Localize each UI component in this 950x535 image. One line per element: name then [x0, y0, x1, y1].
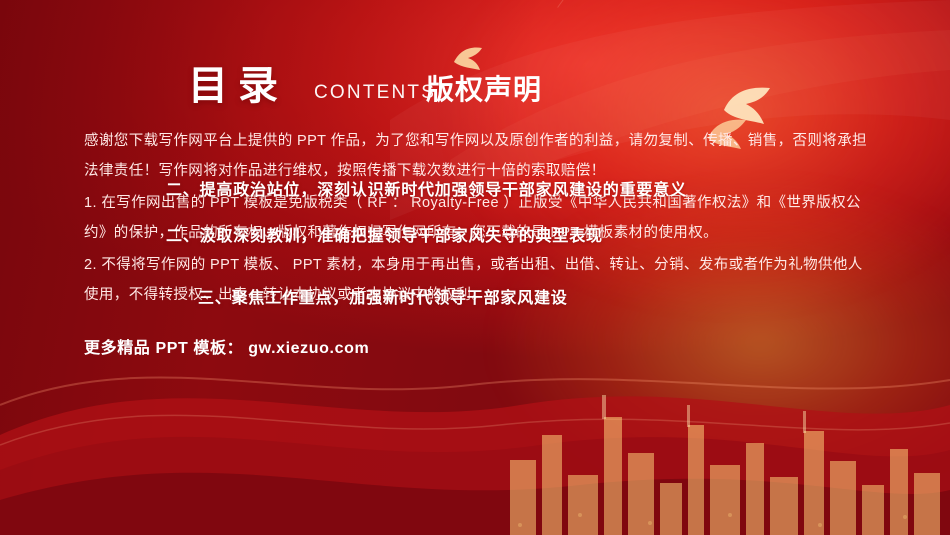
copyright-notice-block: 版权声明 感谢您下载写作网平台上提供的 PPT 作品，为了您和写作网以及原创作者…	[84, 68, 874, 358]
copyright-paragraph-2: 1. 在写作网出售的 PPT 模板是免版税类（ RF ： Royalty-Fre…	[84, 188, 874, 248]
copyright-paragraph-1: 感谢您下载写作网平台上提供的 PPT 作品，为了您和写作网以及原创作者的利益，请…	[84, 126, 874, 186]
copyright-footer-url: gw.xiezuo.com	[248, 340, 369, 357]
copyright-heading: 版权声明	[426, 68, 874, 108]
copyright-footer: 更多精品 PPT 模板： gw.xiezuo.com	[84, 334, 874, 358]
copyright-paragraph-3: 2. 不得将写作网的 PPT 模板、 PPT 素材，本身用于再出售，或者出租、出…	[84, 250, 874, 310]
copyright-footer-label: 更多精品 PPT 模板：	[84, 340, 243, 357]
presentation-slide: 目录 CONTENTS 版权声明 感谢您下载写作网平台上提供的 PPT 作品，为…	[0, 0, 950, 535]
